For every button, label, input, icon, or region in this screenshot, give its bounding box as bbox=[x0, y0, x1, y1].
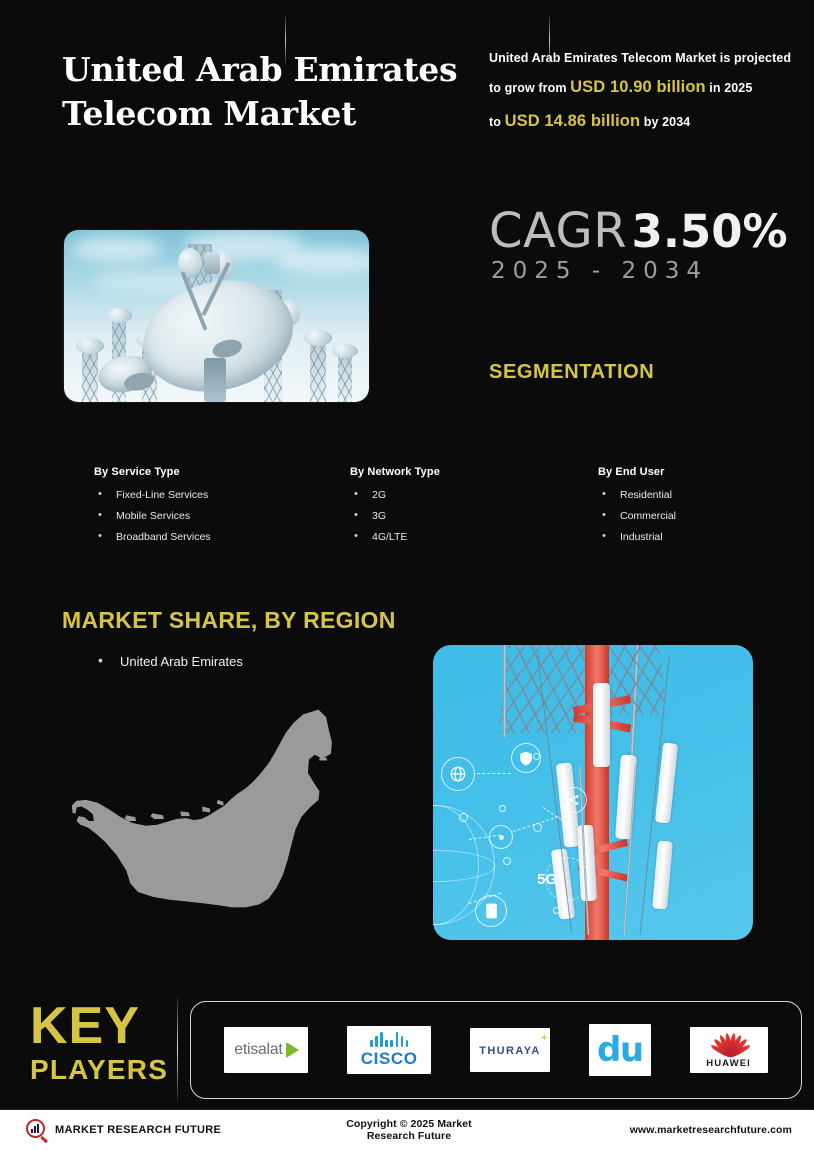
stat-line1: United Arab Emirates Telecom Market is p… bbox=[489, 51, 791, 65]
list-item: 4G/LTE bbox=[350, 527, 570, 548]
key-players-divider bbox=[177, 995, 178, 1103]
satellite-dish-image bbox=[64, 230, 369, 402]
uae-map-shape bbox=[72, 710, 332, 908]
key-players-heading: KEY PLAYERS bbox=[30, 1000, 160, 1088]
market-share-heading: MARKET SHARE, BY REGION bbox=[62, 607, 396, 634]
list-item: Broadband Services bbox=[94, 527, 320, 548]
thuraya-star-icon bbox=[541, 1034, 548, 1041]
list-item: 2G bbox=[350, 485, 570, 506]
stat-line2-prefix: to grow from bbox=[489, 81, 570, 95]
footer: MARKET RESEARCH FUTURE Copyright © 2025 … bbox=[0, 1110, 814, 1150]
logo-huawei-label: HUAWEI bbox=[705, 1058, 753, 1069]
segmentation-column-service-type: By Service Type Fixed-Line Services Mobi… bbox=[62, 466, 320, 548]
footer-url[interactable]: www.marketresearchfuture.com bbox=[492, 1124, 792, 1136]
segmentation-divider bbox=[285, 14, 286, 66]
list-item: Residential bbox=[598, 485, 762, 506]
brand-name: MARKET RESEARCH FUTURE bbox=[55, 1124, 221, 1136]
uae-map bbox=[60, 700, 360, 940]
page-title: United Arab Emirates Telecom Market bbox=[62, 48, 462, 136]
globe-icon bbox=[441, 757, 475, 791]
market-value-2025: USD 10.90 billion bbox=[570, 78, 706, 96]
segment-list: Residential Commercial Industrial bbox=[598, 485, 762, 548]
stat-line2-suffix: in 2025 bbox=[706, 81, 753, 95]
stat-line3-suffix: by 2034 bbox=[640, 115, 690, 129]
cagr-label: CAGR bbox=[489, 203, 627, 259]
magnifier-chart-icon bbox=[26, 1119, 48, 1141]
segmentation-column-network-type: By Network Type 2G 3G 4G/LTE bbox=[320, 466, 570, 548]
cisco-bars-icon bbox=[361, 1032, 418, 1047]
logo-du: du bbox=[589, 1024, 651, 1076]
stat-line3-prefix: to bbox=[489, 115, 505, 129]
list-item: United Arab Emirates bbox=[92, 652, 243, 672]
list-item: Mobile Services bbox=[94, 506, 320, 527]
segmentation-column-end-user: By End User Residential Commercial Indus… bbox=[570, 466, 762, 548]
market-value-2034: USD 14.86 billion bbox=[505, 112, 641, 130]
huawei-flower-icon bbox=[705, 1032, 753, 1056]
brand-logo: MARKET RESEARCH FUTURE bbox=[26, 1119, 326, 1141]
logo-cisco: CISCO bbox=[347, 1026, 431, 1074]
segment-list: Fixed-Line Services Mobile Services Broa… bbox=[94, 485, 320, 548]
segment-title: By End User bbox=[598, 466, 762, 478]
segment-title: By Service Type bbox=[94, 466, 320, 478]
footer-copyright: Copyright © 2025 Market Research Future bbox=[326, 1118, 492, 1142]
list-item: Industrial bbox=[598, 527, 762, 548]
logo-thuraya-label: THURAYA bbox=[479, 1045, 541, 1057]
market-share-region-list: United Arab Emirates bbox=[92, 652, 243, 672]
list-item: Fixed-Line Services bbox=[94, 485, 320, 506]
list-item: Commercial bbox=[598, 506, 762, 527]
segment-list: 2G 3G 4G/LTE bbox=[350, 485, 570, 548]
market-projection-statement: United Arab Emirates Telecom Market is p… bbox=[489, 46, 804, 138]
logo-cisco-label: CISCO bbox=[361, 1049, 418, 1069]
logo-etisalat: etisalat bbox=[224, 1027, 308, 1073]
cagr-period: 2025 - 2034 bbox=[491, 258, 708, 284]
cagr-value: 3.50% bbox=[632, 205, 788, 258]
logo-etisalat-label: etisalat bbox=[234, 1041, 282, 1059]
logo-huawei: HUAWEI bbox=[690, 1027, 768, 1073]
etisalat-arrow-icon bbox=[286, 1042, 299, 1058]
cagr-block: CAGR 3.50% bbox=[489, 203, 788, 259]
cell-tower-image: 5G bbox=[433, 645, 753, 940]
infographic-poster: United Arab Emirates Telecom Market Unit… bbox=[0, 0, 814, 1150]
logo-thuraya: THURAYA bbox=[470, 1028, 550, 1072]
list-item: 3G bbox=[350, 506, 570, 527]
settings-icon bbox=[489, 825, 513, 849]
key-players-line2: PLAYERS bbox=[30, 1052, 160, 1088]
segment-title: By Network Type bbox=[350, 466, 570, 478]
segmentation-divider bbox=[549, 14, 550, 66]
key-players-line1: KEY bbox=[30, 1000, 160, 1052]
logo-du-label: du bbox=[597, 1033, 643, 1067]
segmentation-heading: SEGMENTATION bbox=[489, 361, 654, 384]
share-icon bbox=[561, 787, 587, 813]
key-players-logo-box: etisalat CISCO THURAYA du bbox=[190, 1001, 802, 1099]
segmentation-columns: By Service Type Fixed-Line Services Mobi… bbox=[62, 466, 762, 548]
